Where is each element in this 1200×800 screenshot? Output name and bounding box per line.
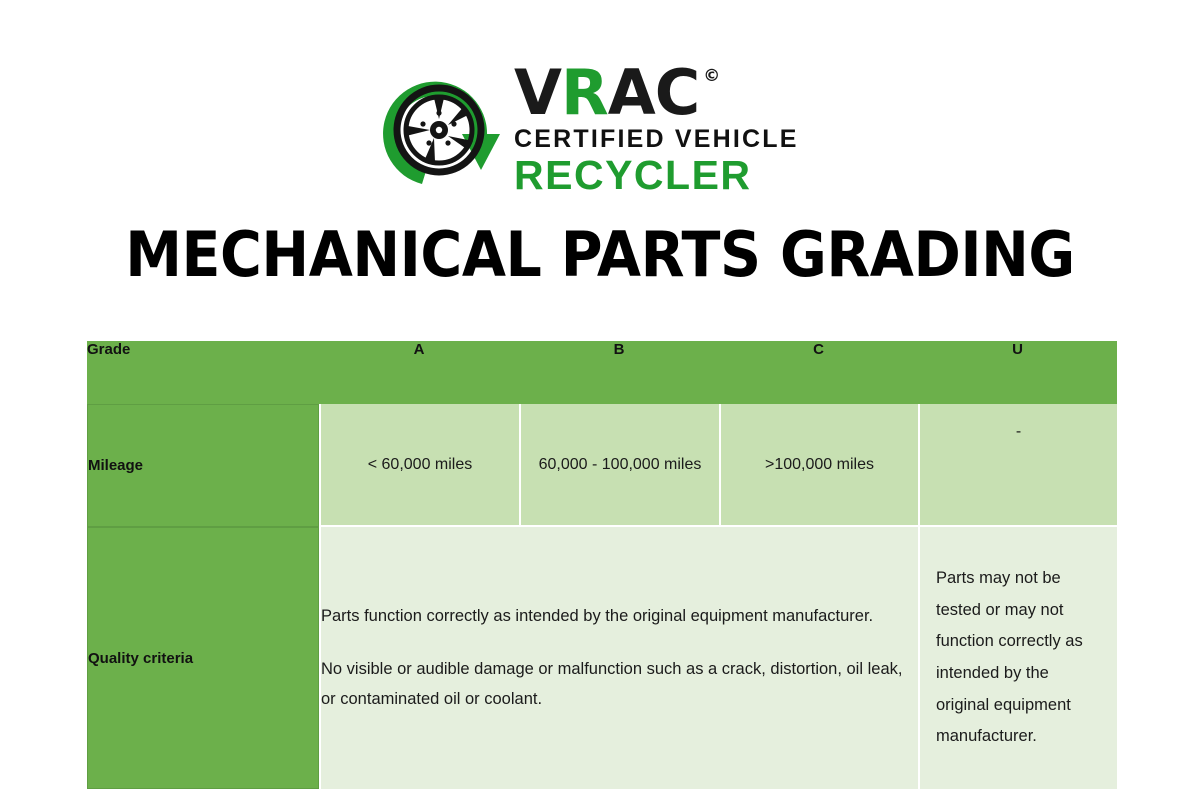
logo-wordmark: VRAC© CERTIFIED VEHICLE RECYCLER xyxy=(514,58,799,196)
copyright-icon: © xyxy=(703,68,719,85)
header-grade-c: C xyxy=(719,341,918,404)
table-row-quality-criteria: Quality criteria Parts function correctl… xyxy=(87,527,1117,789)
mileage-grade-u: - xyxy=(918,404,1117,527)
brand-letter-r: R xyxy=(561,64,608,123)
header-grade-label: Grade xyxy=(87,341,319,404)
recycling-wheel-icon xyxy=(378,58,510,193)
brand-letter-v: V xyxy=(514,64,561,123)
quality-criteria-abc: Parts function correctly as intended by … xyxy=(319,527,918,789)
mileage-grade-a: < 60,000 miles xyxy=(319,404,519,527)
header-grade-u: U xyxy=(918,341,1117,404)
table-header-row: Grade A B C U xyxy=(87,341,1117,404)
logo-tagline: CERTIFIED VEHICLE xyxy=(514,127,799,152)
table-row-mileage: Mileage < 60,000 miles 60,000 - 100,000 … xyxy=(87,404,1117,527)
document-page: VRAC© CERTIFIED VEHICLE RECYCLER MECHANI… xyxy=(0,0,1200,800)
quality-criteria-paragraph-1: Parts function correctly as intended by … xyxy=(321,601,918,632)
brand-letters-ac: AC xyxy=(608,64,699,123)
quality-criteria-paragraph-2: No visible or audible damage or malfunct… xyxy=(321,654,918,715)
brand-name: VRAC© xyxy=(514,64,799,123)
header-grade-b: B xyxy=(519,341,719,404)
mileage-grade-b: 60,000 - 100,000 miles xyxy=(519,404,719,527)
mechanical-parts-grading-table: Grade A B C U Mileage < 60,000 miles 60,… xyxy=(87,341,1117,789)
page-title: MECHANICAL PARTS GRADING xyxy=(48,218,1152,291)
row-label-quality-criteria: Quality criteria xyxy=(87,527,319,789)
vrac-logo: VRAC© CERTIFIED VEHICLE RECYCLER xyxy=(378,58,838,203)
mileage-grade-c: >100,000 miles xyxy=(719,404,918,527)
logo-recycler-word: RECYCLER xyxy=(514,155,799,196)
row-label-mileage: Mileage xyxy=(87,404,319,527)
quality-criteria-u: Parts may not be tested or may not funct… xyxy=(918,527,1117,789)
header-grade-a: A xyxy=(319,341,519,404)
